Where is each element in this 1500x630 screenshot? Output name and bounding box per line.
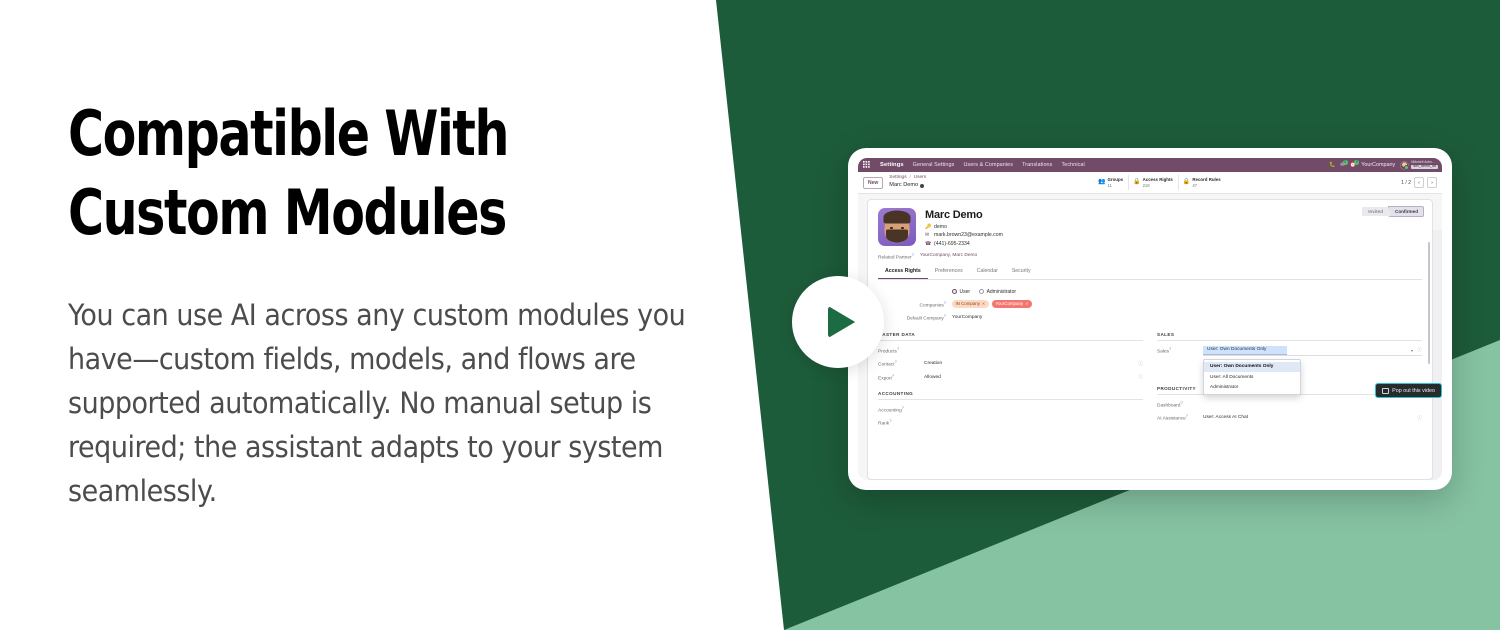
close-icon[interactable]: ✕	[982, 301, 986, 306]
field-label: Sales?	[1157, 346, 1203, 355]
status-badge: Invited Confirmed	[1362, 206, 1424, 217]
pager-count: 1 / 2	[1401, 180, 1411, 186]
pager-previous-button[interactable]: ‹	[1414, 177, 1424, 188]
login-row: 🔑 demo	[925, 224, 1003, 230]
phone-icon: ☎	[925, 241, 931, 247]
app-screenshot-device: Settings General Settings Users & Compan…	[848, 148, 1452, 490]
user-identity: Mitchell Adm... dev_demo_db	[1411, 161, 1438, 170]
field-label: Export?	[878, 373, 924, 382]
pager-next-button[interactable]: ›	[1427, 177, 1437, 188]
related-partner-row: Related Partner? YourCompany, Marc Demo	[878, 252, 1422, 261]
tab-calendar[interactable]: Calendar	[970, 265, 1005, 279]
play-icon	[828, 306, 855, 338]
tag-in-company[interactable]: IN Company ✕	[952, 300, 989, 308]
default-company-label: Default Company?	[878, 313, 946, 322]
field-row-sales: Sales? User: Own Documents Only ▾ ⓘ User…	[1157, 346, 1422, 355]
page-title: Compatible With Custom Modules	[68, 94, 666, 253]
field-row-contact: Contact? Creation ⓘ	[878, 359, 1143, 368]
pop-out-label: Pop out this video	[1392, 388, 1435, 394]
companies-label: Companies?	[878, 300, 946, 309]
vertical-scrollbar[interactable]	[1428, 242, 1431, 364]
field-row-export: Export? Allowed ⓘ	[878, 373, 1143, 382]
stat-label: Groups	[1107, 177, 1123, 183]
field-row-dashboard: Dashboard?	[1157, 400, 1422, 409]
group-title-accounting: ACCOUNTING	[878, 391, 1143, 400]
radio-dot-icon	[979, 289, 984, 294]
default-company-field-row: Default Company? YourCompany	[878, 313, 1422, 322]
new-button[interactable]: New	[863, 177, 883, 189]
email-row: ✉ mark.brown23@example.com	[925, 232, 1003, 238]
field-row-products: Products?	[878, 346, 1143, 355]
phone-value[interactable]: (441)-695-2334	[934, 241, 970, 247]
email-value[interactable]: mark.brown23@example.com	[934, 232, 1003, 238]
record-title: Marc Demo	[925, 209, 1003, 221]
info-icon[interactable]: ⓘ	[1138, 361, 1143, 367]
tag-yourcompany[interactable]: YourCompany ✕	[992, 300, 1032, 308]
form-sheet: Invited Confirmed Marc Demo 🔑 demo	[867, 199, 1433, 480]
messages-icon[interactable]: ✉ 0	[1340, 162, 1344, 168]
chevron-down-icon[interactable]: ▾	[1411, 348, 1413, 353]
control-panel: New Settings / Users Marc Demo 👥 Groups	[858, 172, 1442, 194]
info-icon[interactable]: ⓘ	[1138, 374, 1143, 380]
user-type-radio-group: User Administrator	[952, 289, 1422, 295]
bug-icon[interactable]: 🐛	[1329, 162, 1335, 168]
related-partner-label: Related Partner?	[878, 252, 914, 261]
tag-label: YourCompany	[995, 301, 1023, 306]
page-subtitle: You can use AI across any custom modules…	[68, 293, 700, 513]
field-value[interactable]: Creation	[924, 361, 942, 366]
tab-security[interactable]: Security	[1005, 265, 1038, 279]
video-play-button[interactable]	[792, 276, 884, 368]
pop-out-icon	[1382, 388, 1389, 394]
login-value[interactable]: demo	[934, 224, 947, 230]
navbar-item-translations[interactable]: Translations	[1022, 162, 1052, 168]
stat-value: 219	[1143, 183, 1173, 188]
tag-label: IN Company	[956, 301, 980, 306]
app-screen: Settings General Settings Users & Compan…	[858, 158, 1442, 480]
activities-badge: 0	[1354, 160, 1359, 165]
field-row-rank: Rank?	[878, 418, 1143, 427]
field-label: AI Assistance?	[1157, 413, 1203, 422]
default-company-value[interactable]: YourCompany	[952, 315, 982, 320]
phone-row: ☎ (441)-695-2334	[925, 241, 1003, 247]
settings-groups: MASTER DATA Products? Contact? Creation …	[878, 332, 1422, 427]
info-icon[interactable]: ⓘ	[1417, 415, 1422, 421]
groups-icon: 👥	[1098, 179, 1105, 185]
envelope-icon: ✉	[925, 232, 931, 238]
user-avatar-image[interactable]	[878, 208, 916, 246]
stat-button-record-rules[interactable]: 🔒 Record Rules 47	[1178, 175, 1225, 190]
breadcrumb: Settings / Users Marc Demo	[889, 175, 926, 189]
group-title-master-data: MASTER DATA	[878, 332, 1143, 341]
stat-label: Record Rules	[1192, 177, 1220, 183]
navbar-company-switcher[interactable]: YourCompany	[1361, 162, 1395, 168]
stat-button-groups[interactable]: 👥 Groups 11	[1094, 175, 1127, 190]
navbar-item-technical[interactable]: Technical	[1061, 162, 1084, 168]
avatar	[1400, 161, 1409, 170]
notebook-tabs: Access Rights Preferences Calendar Secur…	[878, 265, 1422, 280]
info-icon[interactable]: ⓘ	[1417, 347, 1422, 353]
app-top-navbar: Settings General Settings Users & Compan…	[858, 158, 1442, 172]
navbar-item-users-companies[interactable]: Users & Companies	[963, 162, 1013, 168]
sales-dropdown-menu[interactable]: User: Own Documents Only User: All Docum…	[1203, 359, 1301, 396]
record-pager: 1 / 2 ‹ ›	[1401, 177, 1437, 188]
field-label: Accounting?	[878, 405, 924, 414]
radio-dot-icon	[952, 289, 957, 294]
record-name: Marc Demo	[889, 182, 918, 190]
key-icon: 🔑	[925, 224, 931, 230]
pop-out-video-button[interactable]: Pop out this video	[1375, 383, 1442, 398]
dropdown-option-own-documents[interactable]: User: Own Documents Only	[1204, 362, 1300, 372]
group-title-sales: SALES	[1157, 332, 1422, 341]
field-label: Contact?	[878, 359, 924, 368]
related-partner-value[interactable]: YourCompany, Marc Demo	[920, 253, 977, 258]
stat-button-access-rights[interactable]: 🔒 Access Rights 219	[1128, 175, 1177, 190]
navbar-right-group: 🐛 ✉ 0 ⏰ 0 YourCompany Mitchell Adm... de…	[1329, 158, 1438, 172]
marketing-copy: Compatible With Custom Modules You can u…	[68, 94, 748, 513]
field-label: Rank?	[878, 418, 924, 427]
status-confirmed[interactable]: Confirmed	[1388, 206, 1424, 217]
radio-label: Administrator	[987, 289, 1016, 295]
navbar-item-general-settings[interactable]: General Settings	[913, 162, 955, 168]
stat-value: 47	[1192, 183, 1220, 188]
breadcrumb-separator: /	[909, 175, 910, 180]
dropdown-option-administrator[interactable]: Administrator	[1204, 382, 1300, 392]
messages-badge: 0	[1343, 160, 1348, 165]
record-identity: Marc Demo 🔑 demo ✉ mark.brown23@example.…	[878, 208, 1422, 247]
tab-access-rights[interactable]: Access Rights	[878, 265, 928, 279]
field-label: Products?	[878, 346, 924, 355]
navbar-brand[interactable]: Settings	[880, 162, 904, 168]
breadcrumb-section[interactable]: Users	[914, 175, 927, 180]
radio-user[interactable]: User	[952, 289, 970, 295]
close-icon[interactable]: ✕	[1025, 301, 1029, 306]
field-label: Dashboard?	[1157, 400, 1203, 409]
left-column: MASTER DATA Products? Contact? Creation …	[878, 332, 1143, 427]
user-database: dev_demo_db	[1411, 165, 1438, 170]
field-value[interactable]: Allowed	[924, 375, 941, 380]
gear-icon[interactable]	[920, 184, 924, 188]
navbar-user-menu[interactable]: Mitchell Adm... dev_demo_db	[1400, 161, 1438, 170]
sales-select-input[interactable]: User: Own Documents Only	[1203, 346, 1287, 355]
form-view: Invited Confirmed Marc Demo 🔑 demo	[858, 194, 1442, 480]
field-row-accounting: Accounting?	[878, 405, 1143, 414]
field-row-ai-assistance: AI Assistance? User: Access AI Chat ⓘ	[1157, 413, 1422, 422]
stat-value: 11	[1107, 183, 1123, 188]
breadcrumb-record: Marc Demo	[889, 182, 926, 190]
companies-tags: IN Company ✕ YourCompany ✕	[952, 300, 1032, 308]
right-column: SALES Sales? User: Own Documents Only ▾ …	[1157, 332, 1422, 427]
radio-label: User	[960, 289, 971, 295]
stat-buttons: 👥 Groups 11 🔒 Access Rights 219 🔒	[1094, 175, 1225, 190]
lock-icon: 🔒	[1183, 179, 1190, 185]
field-value[interactable]: User: Access AI Chat	[1203, 415, 1248, 420]
stat-label: Access Rights	[1143, 177, 1173, 183]
breadcrumb-root[interactable]: Settings	[889, 175, 906, 180]
lock-icon: 🔒	[1133, 179, 1140, 185]
radio-administrator[interactable]: Administrator	[979, 289, 1016, 295]
dropdown-option-all-documents[interactable]: User: All Documents	[1204, 372, 1300, 382]
status-invited[interactable]: Invited	[1362, 207, 1388, 216]
companies-field-row: Companies? IN Company ✕ YourCompany ✕	[878, 300, 1422, 309]
apps-grid-icon[interactable]	[863, 161, 871, 169]
tab-preferences[interactable]: Preferences	[928, 265, 970, 279]
activities-icon[interactable]: ⏰ 0	[1350, 162, 1356, 168]
